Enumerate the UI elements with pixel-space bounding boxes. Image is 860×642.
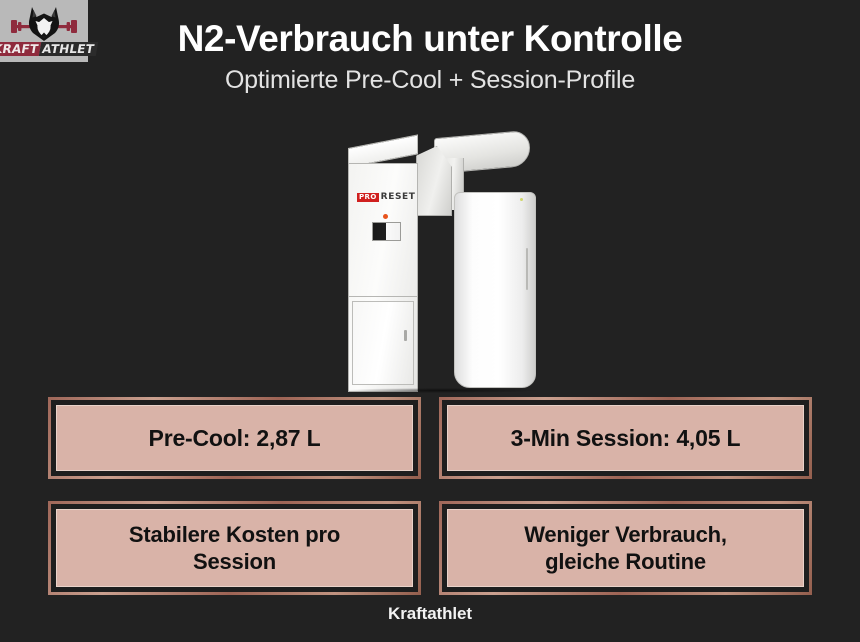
- benefit-card-consumption-inner: Weniger Verbrauch, gleiche Routine: [447, 509, 804, 587]
- benefit-card-row: Stabilere Kosten pro Session Weniger Ver…: [48, 501, 812, 595]
- brand-wordmark-athlet: ATHLET: [39, 42, 98, 56]
- stat-card-session-label: 3-Min Session: 4,05 L: [503, 424, 749, 453]
- machine-chamber-seam: [526, 248, 528, 290]
- header: N2-Verbrauch unter Kontrolle Optimierte …: [0, 18, 860, 95]
- machine-chamber: [454, 192, 536, 388]
- machine-chamber-led-icon: [520, 198, 523, 201]
- machine-brand-reset: RESET: [381, 193, 416, 202]
- machine-power-led-icon: [383, 214, 388, 219]
- benefit-card-costs-inner: Stabilere Kosten pro Session: [56, 509, 413, 587]
- footer-brand-name: Kraftathlet: [388, 604, 472, 623]
- stat-card-row: Pre-Cool: 2,87 L 3-Min Session: 4,05 L: [48, 397, 812, 479]
- machine-service-door: [352, 301, 414, 385]
- machine-brand-plate: PRO RESET: [357, 193, 416, 202]
- stat-card-precool: Pre-Cool: 2,87 L: [48, 397, 421, 479]
- machine-brand-pro: PRO: [357, 193, 379, 202]
- stat-card-session: 3-Min Session: 4,05 L: [439, 397, 812, 479]
- stat-card-precool-label: Pre-Cool: 2,87 L: [141, 424, 329, 453]
- benefit-card-consumption: Weniger Verbrauch, gleiche Routine: [439, 501, 812, 595]
- machine-shadow: [346, 388, 538, 393]
- stat-card-precool-inner: Pre-Cool: 2,87 L: [56, 405, 413, 471]
- machine-door-handle-icon: [404, 330, 407, 341]
- page-title: N2-Verbrauch unter Kontrolle: [0, 18, 860, 59]
- brand-wordmark: KRAFT ATHLET: [0, 42, 98, 56]
- card-grid: Pre-Cool: 2,87 L 3-Min Session: 4,05 L S…: [48, 397, 812, 595]
- benefit-card-costs: Stabilere Kosten pro Session: [48, 501, 421, 595]
- machine-illustration: PRO RESET: [330, 130, 550, 392]
- stat-card-session-inner: 3-Min Session: 4,05 L: [447, 405, 804, 471]
- brand-wordmark-kraft: KRAFT: [0, 42, 41, 56]
- wolf-head-barbell-icon: [7, 3, 81, 43]
- machine-control-screen: [372, 222, 401, 241]
- benefit-card-costs-label: Stabilere Kosten pro Session: [121, 521, 348, 576]
- page-subtitle: Optimierte Pre-Cool + Session-Profile: [0, 67, 860, 95]
- machine-panel-divider: [348, 296, 418, 297]
- footer: Kraftathlet: [0, 604, 860, 624]
- benefit-card-consumption-label: Weniger Verbrauch, gleiche Routine: [516, 521, 735, 576]
- cryo-chamber-image: PRO RESET: [330, 130, 550, 392]
- brand-badge: KRAFT ATHLET: [0, 0, 88, 62]
